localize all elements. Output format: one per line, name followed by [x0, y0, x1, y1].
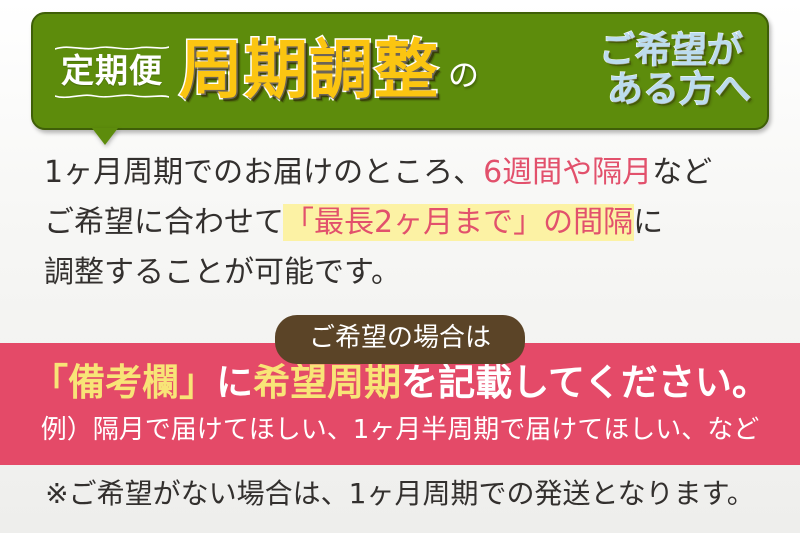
instruction-headline-cycle: 希望周期: [253, 361, 401, 404]
header-title-particle: の: [448, 61, 479, 92]
header-content-row: 定期便 周期調整 の ご希望が ある方へ: [33, 14, 767, 128]
body-line-1-part-2: など: [652, 155, 712, 190]
instruction-headline-part-4: を記載してください。: [401, 361, 769, 404]
wavy-line-bottom-icon: [55, 92, 169, 100]
header-green-box: 定期便 周期調整 の ご希望が ある方へ: [31, 12, 769, 130]
instruction-headline-part-2: に: [216, 361, 253, 404]
header-title-right-line2: ある方へ: [599, 71, 751, 110]
instruction-headline-field: 「備考欄」: [31, 361, 216, 404]
header-title-right: ご希望が ある方へ: [599, 32, 751, 110]
header-title-right-line1: ご希望が: [599, 32, 751, 71]
body-line-3: 調整することが可能です。: [44, 248, 760, 298]
body-line-1-accent: 6週間や隔月: [483, 155, 652, 190]
header-title-main: 周期調整: [179, 39, 439, 103]
instruction-examples: 例）隔月で届けてほしい、1ヶ月半周期で届けてほしい、など: [0, 417, 800, 443]
wavy-line-top-icon: [55, 44, 169, 52]
subscription-badge-label: 定期便: [61, 51, 163, 90]
footnote-text: ※ご希望がない場合は、1ヶ月周期での発送となります。: [0, 480, 800, 508]
body-line-1-part-1: 1ヶ月周期でのお届けのところ、: [44, 155, 483, 190]
body-line-2-highlight: 「最長2ヶ月まで」の間隔: [284, 205, 633, 240]
body-paragraph: 1ヶ月周期でのお届けのところ、6週間や隔月など ご希望に合わせて「最長2ヶ月まで…: [44, 148, 760, 298]
body-line-2: ご希望に合わせて「最長2ヶ月まで」の間隔に: [44, 198, 760, 248]
condition-badge: ご希望の場合は: [275, 315, 525, 364]
body-line-2-part-1: ご希望に合わせて: [44, 205, 284, 240]
instruction-headline: 「備考欄」に希望周期を記載してください。: [0, 364, 800, 401]
speech-bubble-tail-icon: [92, 128, 118, 145]
subscription-badge: 定期便: [55, 45, 169, 98]
promo-banner: 定期便 周期調整 の ご希望が ある方へ 1ヶ月周期でのお届けのところ、6週間や…: [0, 0, 800, 533]
body-line-2-part-2: に: [633, 205, 663, 240]
body-line-1: 1ヶ月周期でのお届けのところ、6週間や隔月など: [44, 148, 760, 198]
